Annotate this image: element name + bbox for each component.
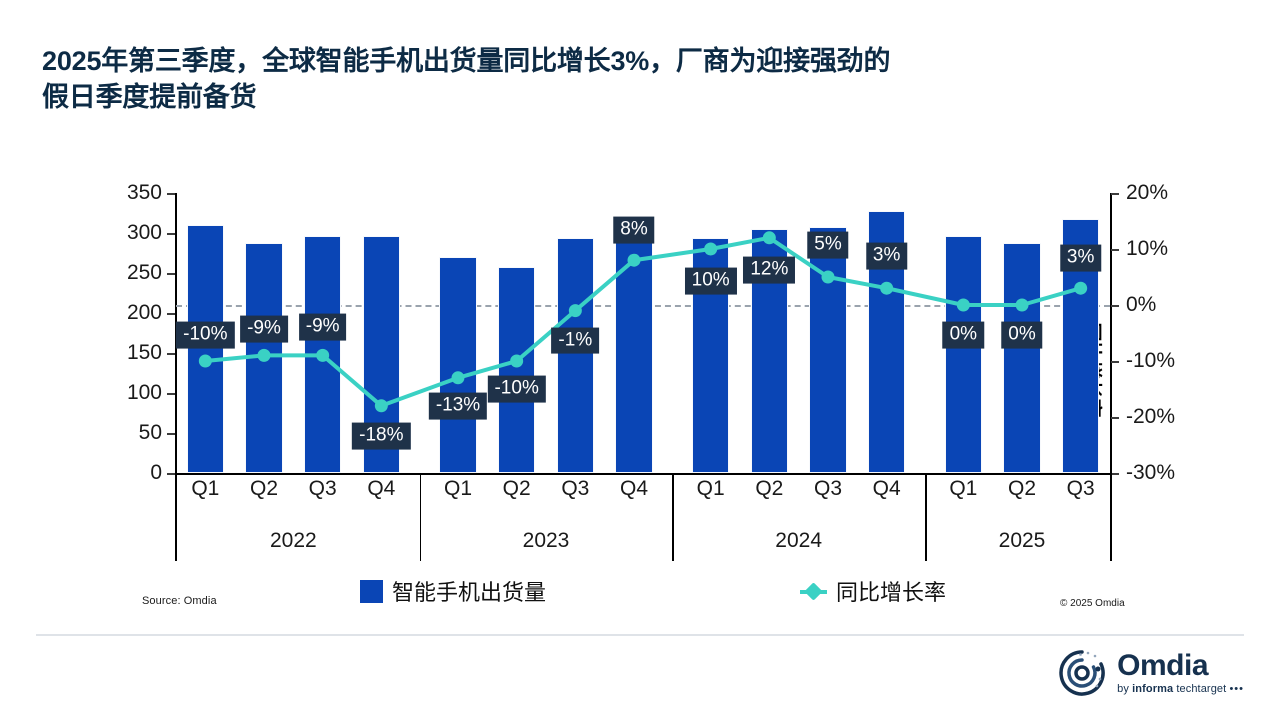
y-tick-left <box>167 233 175 235</box>
y-tick-label-right: 10% <box>1126 238 1168 259</box>
y-tick-label-right: 20% <box>1126 182 1168 203</box>
data-label: 10% <box>685 268 737 295</box>
y-tick-left <box>167 393 175 395</box>
data-label: 5% <box>807 232 848 259</box>
quarter-label: Q4 <box>873 477 901 501</box>
y-tick-left <box>167 313 175 315</box>
y-tick-label-left: 150 <box>127 342 162 363</box>
year-label: 2022 <box>270 529 317 553</box>
line-marker[interactable] <box>822 271 835 284</box>
omdia-logo: Omdia by informa techtarget ••• <box>1057 648 1244 698</box>
y-tick-label-right: -10% <box>1126 350 1175 371</box>
quarter-label: Q2 <box>250 477 278 501</box>
logo-dots-icon: ••• <box>1229 683 1244 695</box>
year-label: 2023 <box>523 529 570 553</box>
quarter-label: Q2 <box>503 477 531 501</box>
title-block: 2025年第三季度，全球智能手机出货量同比增长3%，厂商为迎接强劲的 假日季度提… <box>42 44 1222 116</box>
legend-label-growth: 同比增长率 <box>836 575 946 607</box>
y-tick-left <box>167 353 175 355</box>
line-marker[interactable] <box>452 371 465 384</box>
year-label: 2025 <box>999 529 1046 553</box>
data-label: 0% <box>943 322 984 349</box>
quarter-label: Q4 <box>367 477 395 501</box>
line-marker[interactable] <box>957 299 970 312</box>
logo-sub-rest: techtarget <box>1173 683 1226 695</box>
data-label: -9% <box>299 314 347 341</box>
x-axis: Q1Q2Q3Q4Q1Q2Q3Q4Q1Q2Q3Q4Q1Q2Q3 202220232… <box>176 473 1110 568</box>
data-label: -1% <box>551 327 599 354</box>
line-marker[interactable] <box>258 349 271 362</box>
logo-sub-brand: informa <box>1132 683 1173 695</box>
footer-divider <box>36 634 1244 636</box>
legend-item-shipments[interactable]: 智能手机出货量 <box>360 575 546 607</box>
quarter-label: Q2 <box>755 477 783 501</box>
source-note: Source: Omdia <box>142 595 217 607</box>
legend-swatch-bar-icon <box>360 580 383 603</box>
quarter-label: Q3 <box>309 477 337 501</box>
line-marker[interactable] <box>880 282 893 295</box>
quarter-label: Q1 <box>191 477 219 501</box>
y-tick-label-right: 0% <box>1126 294 1156 315</box>
y-tick-right <box>1111 305 1119 307</box>
y-tick-right <box>1111 193 1119 195</box>
year-label: 2024 <box>775 529 822 553</box>
quarter-label: Q1 <box>444 477 472 501</box>
y-tick-left <box>167 433 175 435</box>
y-tick-label-right: -20% <box>1126 406 1175 427</box>
y-tick-right <box>1111 417 1119 419</box>
y-tick-label-left: 350 <box>127 182 162 203</box>
quarter-label: Q2 <box>1008 477 1036 501</box>
data-label: 8% <box>613 217 654 244</box>
line-marker[interactable] <box>316 349 329 362</box>
line-marker[interactable] <box>510 355 523 368</box>
line-marker[interactable] <box>763 231 776 244</box>
y-axis-right-line <box>1110 193 1112 473</box>
quarter-label: Q3 <box>814 477 842 501</box>
y-tick-left <box>167 273 175 275</box>
y-tick-label-left: 300 <box>127 222 162 243</box>
data-label: 12% <box>743 256 795 283</box>
data-label: -13% <box>429 392 487 419</box>
legend-item-growth[interactable]: 同比增长率 <box>800 575 946 607</box>
line-marker[interactable] <box>1016 299 1029 312</box>
line-marker[interactable] <box>704 243 717 256</box>
y-tick-left <box>167 193 175 195</box>
year-separator <box>672 473 674 561</box>
line-marker[interactable] <box>1074 282 1087 295</box>
y-tick-right <box>1111 361 1119 363</box>
y-tick-label-left: 0 <box>150 462 162 483</box>
data-label: -10% <box>176 322 234 349</box>
data-label: 3% <box>866 243 907 270</box>
quarter-label: Q4 <box>620 477 648 501</box>
data-label: -9% <box>240 316 288 343</box>
line-marker[interactable] <box>199 355 212 368</box>
page-title: 2025年第三季度，全球智能手机出货量同比增长3%，厂商为迎接强劲的 假日季度提… <box>42 44 1222 116</box>
omdia-mark-icon <box>1057 648 1107 698</box>
legend-label-shipments: 智能手机出货量 <box>392 575 546 607</box>
chart-area: 出货量（百万台） 同比增长率 050100150200250300350 -30… <box>0 170 1280 570</box>
data-label: -10% <box>487 376 545 403</box>
y-tick-label-right: -30% <box>1126 462 1175 483</box>
legend-swatch-line-icon <box>800 580 827 603</box>
y-tick-label-left: 200 <box>127 302 162 323</box>
omdia-wordmark: Omdia <box>1117 651 1244 681</box>
plot-region: 050100150200250300350 -30%-20%-10%0%10%2… <box>176 193 1110 473</box>
y-tick-left <box>167 473 175 475</box>
quarter-label: Q3 <box>1067 477 1095 501</box>
y-tick-label-left: 100 <box>127 382 162 403</box>
y-tick-label-left: 50 <box>139 422 162 443</box>
line-marker[interactable] <box>569 304 582 317</box>
y-tick-label-left: 250 <box>127 262 162 283</box>
quarter-label: Q1 <box>697 477 725 501</box>
x-axis-right-cap <box>1110 473 1112 561</box>
line-marker[interactable] <box>628 254 641 267</box>
y-tick-right <box>1111 473 1119 475</box>
copyright-note: © 2025 Omdia <box>1060 598 1125 609</box>
quarter-label: Q1 <box>949 477 977 501</box>
y-tick-right <box>1111 249 1119 251</box>
data-label: -18% <box>352 422 410 449</box>
year-separator <box>420 473 422 561</box>
year-separator <box>925 473 927 561</box>
omdia-tagline: by informa techtarget ••• <box>1117 684 1244 695</box>
data-label: 3% <box>1060 245 1101 272</box>
x-axis-left-cap <box>175 473 177 561</box>
data-label: 0% <box>1001 322 1042 349</box>
logo-sub-by: by <box>1117 683 1132 695</box>
quarter-label: Q3 <box>561 477 589 501</box>
omdia-logo-text: Omdia by informa techtarget ••• <box>1117 651 1244 695</box>
line-marker[interactable] <box>375 399 388 412</box>
